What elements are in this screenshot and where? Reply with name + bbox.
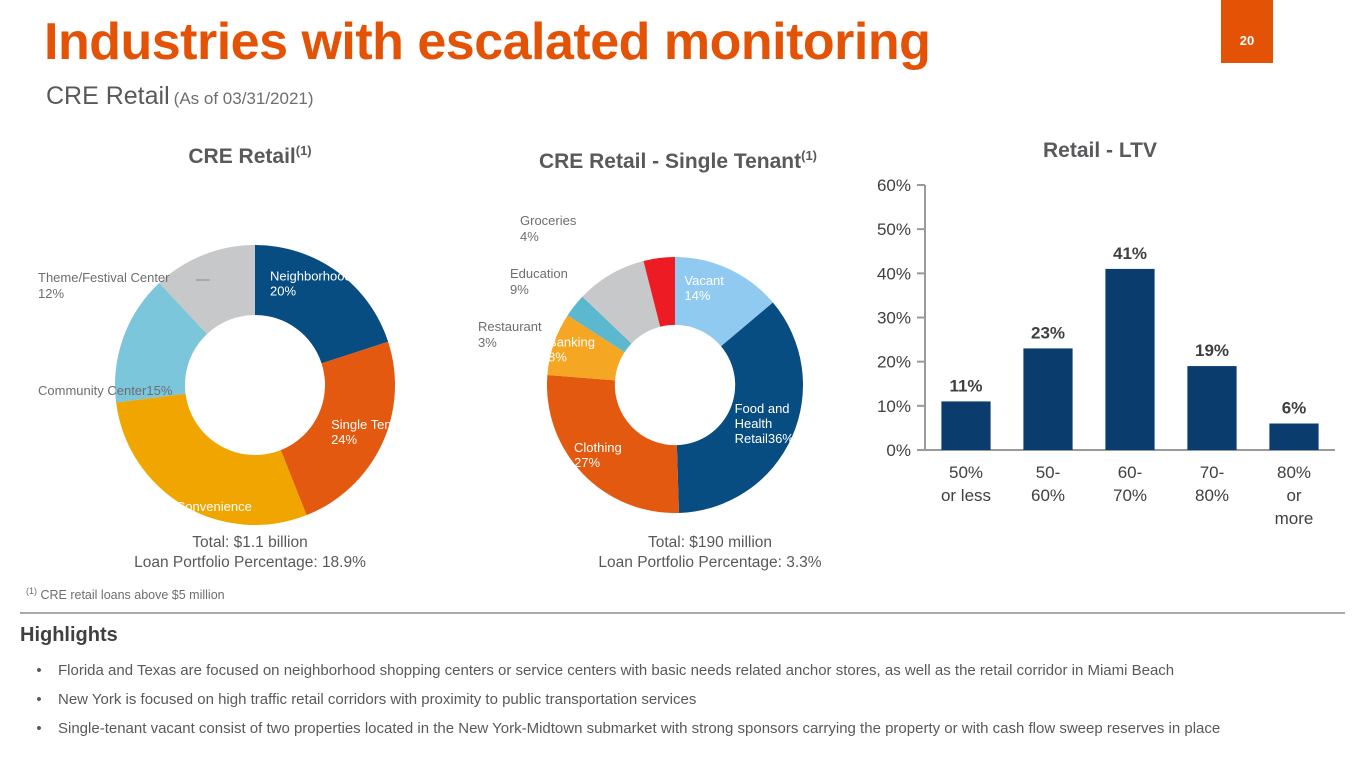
chart-title-retail-ltv: Retail - LTV <box>900 138 1300 164</box>
bar <box>1105 269 1154 450</box>
bullet-point-icon: • <box>20 660 58 681</box>
x-axis-category-label: 80%ormore <box>1275 463 1314 528</box>
x-axis-category-label: 50-60% <box>1031 463 1065 505</box>
page-number-label: 20 <box>1221 33 1273 48</box>
y-axis-tick-label: 0% <box>886 441 911 460</box>
bar-chart-category-labels: 50%or less50-60%60-70%70-80%80%ormore <box>941 463 1313 528</box>
x-axis-category-label: 50%or less <box>941 463 991 505</box>
chart-total-line: Total: $1.1 billion <box>60 533 440 553</box>
chart-title-footnote-marker: (1) <box>296 143 312 158</box>
bar-value-label: 11% <box>949 376 982 395</box>
y-axis-tick-label: 50% <box>877 220 911 239</box>
x-axis-category-label: 70-80% <box>1195 463 1229 505</box>
footnote-text: CRE retail loans above $5 million <box>40 588 224 602</box>
bar-chart-retail-ltv: 0%10%20%30%40%50%60% 11%23%41%19%6% 50%o… <box>845 165 1355 565</box>
chart-title-footnote-marker: (1) <box>801 148 817 163</box>
donut-slice-group <box>547 257 803 513</box>
donut-slice-label: Strip/Convenience29% <box>146 499 252 529</box>
y-axis-tick-label: 30% <box>877 309 911 328</box>
donut-slice-label-outside: Community Center15% <box>38 383 173 398</box>
section-divider <box>20 612 1345 614</box>
chart-footer-cre-retail: Total: $1.1 billion Loan Portfolio Perce… <box>60 533 440 573</box>
highlight-bullet-text: Single-tenant vacant consist of two prop… <box>58 718 1350 739</box>
page-number-badge: 20 <box>1221 0 1273 63</box>
donut-chart-cre-retail: Neighborhood Center20%Single Tenant24%St… <box>10 170 460 530</box>
highlight-bullet-text: Florida and Texas are focused on neighbo… <box>58 660 1350 681</box>
y-axis-tick-label: 40% <box>877 264 911 283</box>
chart-title-text: CRE Retail <box>188 145 295 168</box>
chart-title-text: CRE Retail - Single Tenant <box>539 150 801 173</box>
y-axis-tick-label: 10% <box>877 397 911 416</box>
bar-chart-bars <box>941 269 1318 450</box>
donut-slice-label-outside: Restaurant3% <box>478 319 542 350</box>
highlight-bullet-text: New York is focused on high traffic reta… <box>58 689 1350 710</box>
chart-title-cre-retail: CRE Retail(1) <box>60 138 440 170</box>
bar-value-label: 6% <box>1282 399 1307 418</box>
chart-portfolio-line: Loan Portfolio Percentage: 3.3% <box>500 553 920 573</box>
bar <box>1269 424 1318 451</box>
footnote-marker: (1) <box>26 586 37 596</box>
bar-value-label: 19% <box>1195 341 1229 360</box>
y-axis-tick-label: 20% <box>877 353 911 372</box>
y-axis-tick-label: 60% <box>877 176 911 195</box>
chart-footer-single-tenant: Total: $190 million Loan Portfolio Perce… <box>500 533 920 573</box>
highlight-bullet-item: •New York is focused on high traffic ret… <box>20 689 1350 710</box>
donut-slice-label-outside: Education9% <box>510 266 568 297</box>
chart-portfolio-line: Loan Portfolio Percentage: 18.9% <box>60 553 440 573</box>
bar <box>1187 366 1236 450</box>
bar-value-label: 41% <box>1113 244 1147 263</box>
bar-value-label: 23% <box>1031 323 1065 342</box>
chart-total-line: Total: $190 million <box>500 533 920 553</box>
footnote: (1) CRE retail loans above $5 million <box>26 586 225 602</box>
chart-title-single-tenant: CRE Retail - Single Tenant(1) <box>508 143 848 175</box>
bullet-point-icon: • <box>20 718 58 739</box>
donut-slice <box>255 245 388 363</box>
donut-chart-single-tenant: Vacant14%Food andHealthRetail36%Clothing… <box>460 185 860 515</box>
page-subtitle: CRE Retail(As of 03/31/2021) <box>46 82 314 111</box>
donut-slice-label-outside: Groceries4% <box>520 213 577 244</box>
highlights-heading: Highlights <box>20 624 118 647</box>
subtitle-asof-note: (As of 03/31/2021) <box>174 89 314 108</box>
subtitle-text: CRE Retail <box>46 82 170 110</box>
bar <box>941 401 990 450</box>
highlight-bullet-item: •Florida and Texas are focused on neighb… <box>20 660 1350 681</box>
highlights-list: •Florida and Texas are focused on neighb… <box>20 660 1350 747</box>
bullet-point-icon: • <box>20 689 58 710</box>
highlight-bullet-item: •Single-tenant vacant consist of two pro… <box>20 718 1350 739</box>
page-title: Industries with escalated monitoring <box>44 12 930 72</box>
x-axis-category-label: 60-70% <box>1113 463 1147 505</box>
bar <box>1023 348 1072 450</box>
